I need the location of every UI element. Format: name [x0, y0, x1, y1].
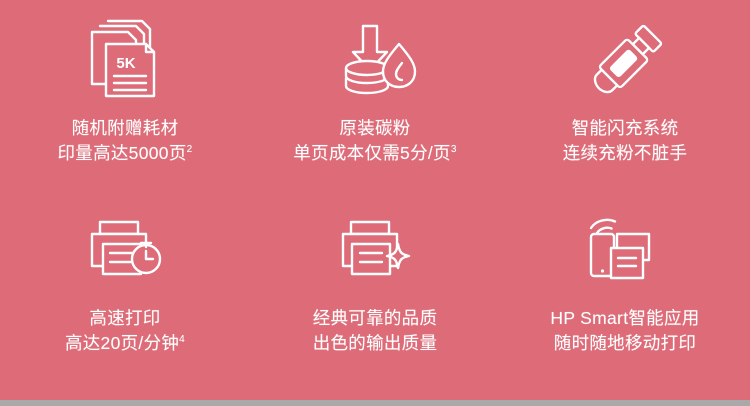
feature-item-speed: 高速打印 高达20页/分钟4	[0, 200, 250, 400]
feature-line-2: 随时随地移动打印	[550, 331, 699, 356]
feature-line-1: HP Smart智能应用	[550, 306, 699, 331]
mobile-wireless-print-icon	[579, 208, 671, 296]
feature-item-toner: 原装碳粉 单页成本仅需5分/页3	[250, 0, 500, 200]
feature-line-1: 原装碳粉	[293, 116, 456, 141]
feature-line-1: 经典可靠的品质	[313, 306, 438, 331]
bottom-divider-strip	[0, 400, 750, 406]
feature-item-quality: 经典可靠的品质 出色的输出质量	[250, 200, 500, 400]
feature-caption: 经典可靠的品质 出色的输出质量	[313, 306, 438, 356]
feature-line-1: 智能闪充系统	[563, 116, 688, 141]
printer-sparkle-icon	[329, 208, 421, 296]
feature-caption: HP Smart智能应用 随时随地移动打印	[550, 306, 699, 356]
feature-line-2: 连续充粉不脏手	[563, 141, 688, 166]
feature-caption: 随机附赠耗材 印量高达5000页2	[57, 116, 192, 166]
feature-line-1: 随机附赠耗材	[57, 116, 192, 141]
hp-printer-feature-banner: 5K 随机附赠耗材 印量高达5000页2	[0, 0, 750, 406]
feature-caption: 高速打印 高达20页/分钟4	[65, 306, 185, 356]
feature-line-2: 高达20页/分钟4	[65, 331, 185, 356]
feature-caption: 智能闪充系统 连续充粉不脏手	[563, 116, 688, 166]
printer-stopwatch-icon	[79, 208, 171, 296]
svg-text:5K: 5K	[116, 55, 135, 72]
refill-syringe-icon	[579, 18, 671, 106]
feature-item-supplies: 5K 随机附赠耗材 印量高达5000页2	[0, 0, 250, 200]
feature-item-smart-refill: 智能闪充系统 连续充粉不脏手	[500, 0, 750, 200]
feature-item-hp-smart: HP Smart智能应用 随时随地移动打印	[500, 200, 750, 400]
footnote-marker: 4	[179, 334, 185, 345]
feature-line-2: 印量高达5000页2	[57, 141, 192, 166]
feature-grid: 5K 随机附赠耗材 印量高达5000页2	[0, 0, 750, 400]
feature-line-2: 单页成本仅需5分/页3	[293, 141, 456, 166]
feature-line-2: 出色的输出质量	[313, 331, 438, 356]
footnote-marker: 2	[187, 144, 193, 155]
feature-line-1: 高速打印	[65, 306, 185, 331]
footnote-marker: 3	[451, 144, 457, 155]
toner-refill-drop-icon	[329, 18, 421, 106]
feature-caption: 原装碳粉 单页成本仅需5分/页3	[293, 116, 456, 166]
stacked-pages-5k-icon: 5K	[79, 18, 171, 106]
